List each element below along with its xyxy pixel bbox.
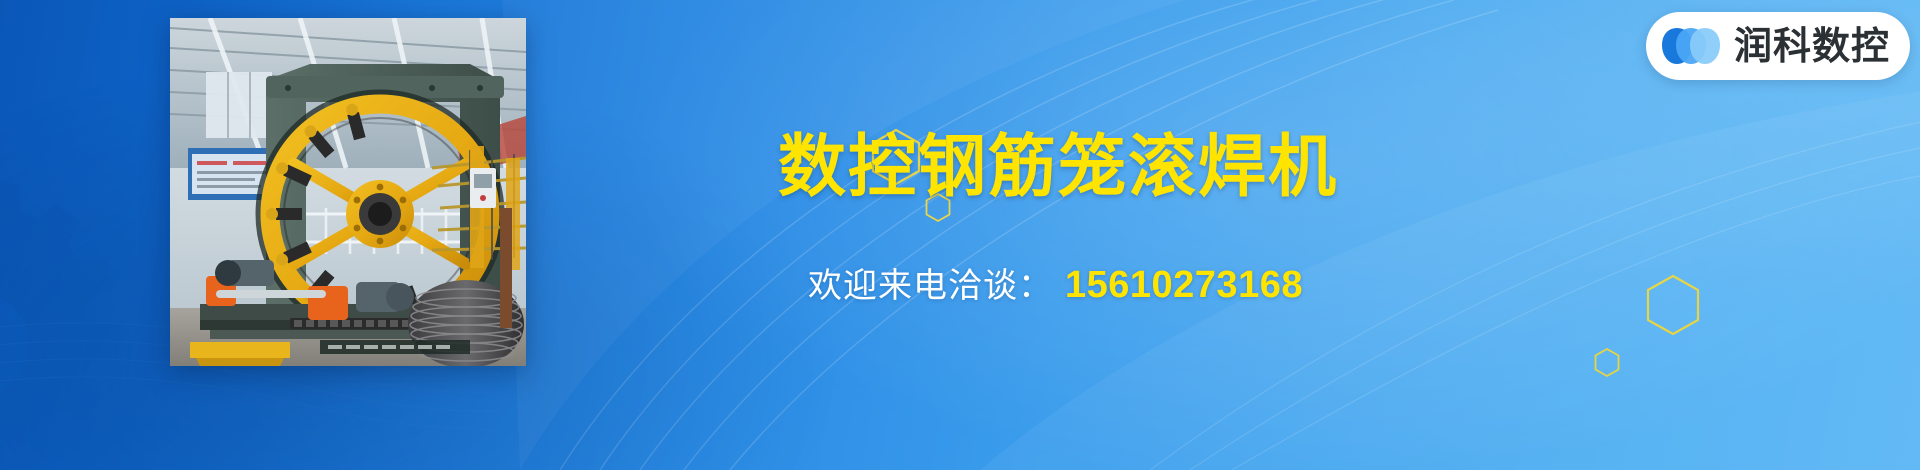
hexagon-large-right [1645, 274, 1701, 336]
product-photo [170, 18, 526, 366]
brand-name: 润科数控 [1734, 27, 1890, 65]
contact-line: 欢迎来电洽谈： 15610273168 [808, 258, 1303, 307]
invite-label: 欢迎来电洽谈： [808, 258, 1053, 307]
company-logo[interactable]: 润科数控 [1646, 12, 1910, 80]
hexagon-small-right [1594, 348, 1620, 377]
three-overlapping-droplets-icon [1660, 24, 1722, 68]
promo-banner: 数控钢筋笼滚焊机 欢迎来电洽谈： 15610273168 润科数控 [0, 0, 1920, 470]
banner-headline: 数控钢筋笼滚焊机 [778, 134, 1338, 202]
phone-number[interactable]: 15610273168 [1065, 264, 1303, 307]
